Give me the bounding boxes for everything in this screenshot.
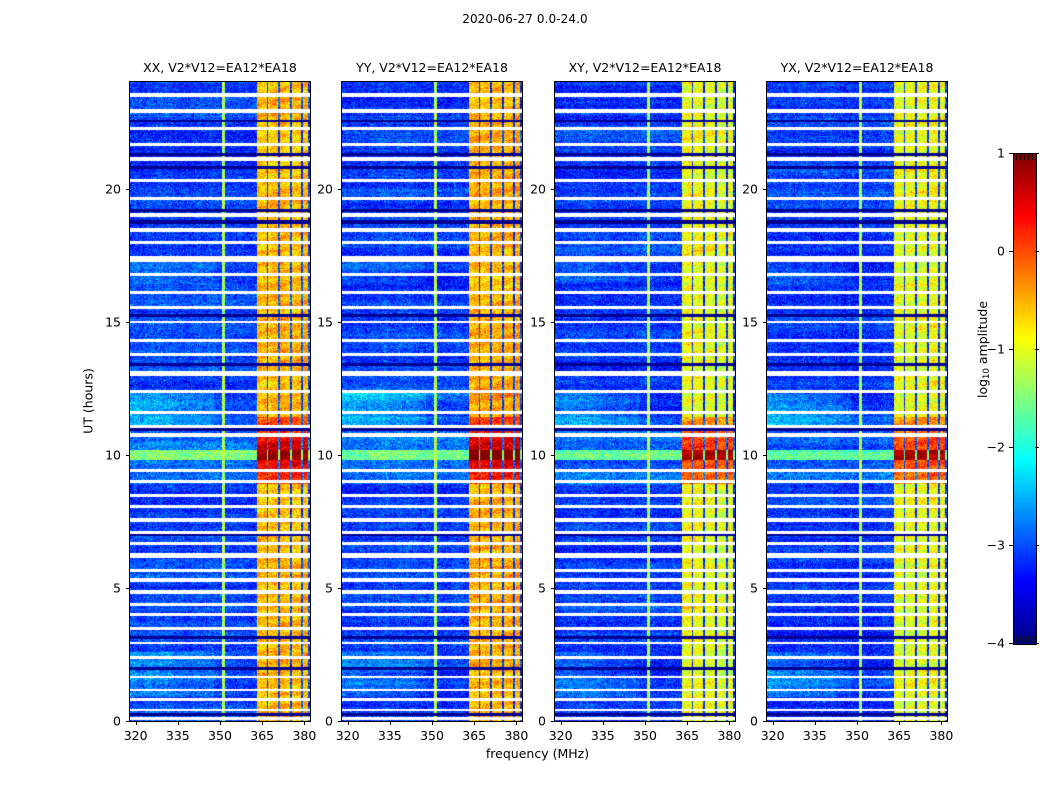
colorbar-tick-label: −4 <box>987 636 1005 651</box>
y-tick-label: 0 <box>113 714 121 729</box>
colorbar-label-base: log <box>975 379 990 398</box>
colorbar-label-rest: amplitude <box>975 301 990 368</box>
x-tick-label: 335 <box>591 728 615 743</box>
colorbar-tick-mark <box>1009 447 1013 448</box>
colorbar-gradient <box>1014 154 1036 644</box>
colorbar-extend-hatch <box>1016 154 1017 160</box>
y-tick-label: 0 <box>538 714 546 729</box>
x-tick-label: 335 <box>803 728 827 743</box>
colorbar-extend-hatch <box>1020 636 1021 642</box>
colorbar-extend-hatch <box>1020 154 1021 160</box>
y-tick-label: 20 <box>317 181 333 196</box>
panel-title-yx: YX, V2*V12=EA12*EA18 <box>781 60 934 75</box>
colorbar-extend-hatch <box>1028 154 1029 160</box>
x-tick-mark <box>729 721 730 725</box>
x-tick-label: 350 <box>208 728 232 743</box>
colorbar-tick-label: −3 <box>987 538 1005 553</box>
y-tick-label: 5 <box>113 580 121 595</box>
y-tick-mark <box>338 588 342 589</box>
panel-title-yy: YY, V2*V12=EA12*EA18 <box>356 60 508 75</box>
y-tick-mark <box>338 455 342 456</box>
y-tick-label: 5 <box>325 580 333 595</box>
x-tick-label: 380 <box>717 728 741 743</box>
x-tick-label: 350 <box>420 728 444 743</box>
y-tick-mark <box>338 721 342 722</box>
x-tick-mark <box>262 721 263 725</box>
colorbar[interactable] <box>1013 153 1037 645</box>
colorbar-extend-hatch <box>1024 154 1025 160</box>
x-tick-label: 320 <box>336 728 360 743</box>
y-tick-mark <box>763 588 767 589</box>
spectrum-panel-xy[interactable]: XY, V2*V12=EA12*EA1832033535036538005101… <box>554 81 736 722</box>
spectrum-panel-xx[interactable]: XX, V2*V12=EA12*EA1832033535036538005101… <box>129 81 311 722</box>
x-tick-mark <box>815 721 816 725</box>
x-tick-mark <box>561 721 562 725</box>
x-tick-mark <box>390 721 391 725</box>
x-tick-label: 350 <box>633 728 657 743</box>
y-tick-label: 20 <box>530 181 546 196</box>
colorbar-extend-hatch <box>1024 636 1025 642</box>
spectrum-image-xy <box>555 82 735 721</box>
x-tick-mark <box>178 721 179 725</box>
colorbar-label: log10 amplitude <box>975 301 990 398</box>
x-tick-label: 320 <box>761 728 785 743</box>
x-tick-mark <box>220 721 221 725</box>
spectrum-panel-yx[interactable]: YX, V2*V12=EA12*EA1832033535036538005101… <box>766 81 948 722</box>
x-tick-label: 365 <box>250 728 274 743</box>
x-tick-label: 350 <box>845 728 869 743</box>
y-tick-mark <box>338 189 342 190</box>
y-tick-label: 0 <box>325 714 333 729</box>
x-tick-mark <box>304 721 305 725</box>
y-tick-mark <box>763 455 767 456</box>
y-tick-mark <box>551 588 555 589</box>
colorbar-extend-hatch <box>1028 636 1029 642</box>
colorbar-tick-label: 0 <box>997 244 1005 259</box>
spectrum-panel-yy[interactable]: YY, V2*V12=EA12*EA1832033535036538005101… <box>341 81 523 722</box>
y-tick-mark <box>338 322 342 323</box>
y-tick-mark <box>551 455 555 456</box>
x-tick-mark <box>645 721 646 725</box>
colorbar-extend-hatch <box>1032 154 1033 160</box>
x-tick-mark <box>516 721 517 725</box>
y-tick-label: 20 <box>105 181 121 196</box>
x-tick-mark <box>348 721 349 725</box>
x-axis-label: frequency (MHz) <box>129 746 946 761</box>
x-tick-label: 365 <box>462 728 486 743</box>
colorbar-label-sub: 10 <box>982 368 992 379</box>
colorbar-tick-mark <box>1009 251 1013 252</box>
x-tick-mark <box>474 721 475 725</box>
x-tick-mark <box>857 721 858 725</box>
x-tick-mark <box>136 721 137 725</box>
spectrum-image-xx <box>130 82 310 721</box>
y-tick-mark <box>126 455 130 456</box>
panel-title-xx: XX, V2*V12=EA12*EA18 <box>143 60 297 75</box>
x-tick-mark <box>432 721 433 725</box>
x-tick-label: 320 <box>124 728 148 743</box>
y-tick-label: 20 <box>742 181 758 196</box>
figure-canvas: 2020-06-27 0.0-24.0 XX, V2*V12=EA12*EA18… <box>0 0 1050 800</box>
y-tick-mark <box>551 189 555 190</box>
colorbar-tick-mark-inner <box>1035 251 1039 252</box>
y-tick-label: 15 <box>105 314 121 329</box>
y-tick-mark <box>763 322 767 323</box>
x-tick-label: 380 <box>929 728 953 743</box>
y-tick-label: 0 <box>750 714 758 729</box>
colorbar-extend-hatch <box>1032 636 1033 642</box>
x-tick-label: 335 <box>378 728 402 743</box>
x-tick-label: 380 <box>292 728 316 743</box>
y-tick-mark <box>763 721 767 722</box>
y-tick-label: 10 <box>105 447 121 462</box>
x-tick-label: 335 <box>166 728 190 743</box>
colorbar-tick-label: 1 <box>997 146 1005 161</box>
colorbar-tick-mark-inner <box>1035 349 1039 350</box>
y-tick-mark <box>551 721 555 722</box>
x-tick-label: 380 <box>504 728 528 743</box>
y-tick-label: 5 <box>538 580 546 595</box>
x-tick-mark <box>941 721 942 725</box>
colorbar-tick-mark <box>1009 545 1013 546</box>
spectrum-image-yx <box>767 82 947 721</box>
colorbar-tick-mark <box>1009 349 1013 350</box>
colorbar-tick-mark-inner <box>1035 545 1039 546</box>
x-tick-mark <box>603 721 604 725</box>
y-axis-label: UT (hours) <box>81 368 96 434</box>
colorbar-tick-mark-inner <box>1035 447 1039 448</box>
x-tick-label: 365 <box>887 728 911 743</box>
colorbar-tick-mark <box>1009 153 1013 154</box>
figure-suptitle: 2020-06-27 0.0-24.0 <box>0 12 1050 26</box>
y-tick-label: 15 <box>742 314 758 329</box>
y-tick-label: 5 <box>750 580 758 595</box>
y-tick-mark <box>126 588 130 589</box>
spectrum-image-yy <box>342 82 522 721</box>
y-tick-label: 10 <box>317 447 333 462</box>
x-tick-mark <box>899 721 900 725</box>
x-tick-mark <box>687 721 688 725</box>
y-tick-label: 15 <box>530 314 546 329</box>
y-tick-mark <box>126 189 130 190</box>
x-tick-label: 320 <box>549 728 573 743</box>
y-tick-mark <box>126 322 130 323</box>
colorbar-tick-label: −2 <box>987 440 1005 455</box>
y-tick-mark <box>551 322 555 323</box>
colorbar-tick-mark-inner <box>1035 153 1039 154</box>
y-tick-mark <box>126 721 130 722</box>
y-tick-label: 15 <box>317 314 333 329</box>
x-tick-mark <box>773 721 774 725</box>
y-tick-label: 10 <box>530 447 546 462</box>
y-tick-mark <box>763 189 767 190</box>
colorbar-tick-mark-inner <box>1035 643 1039 644</box>
colorbar-extend-hatch <box>1016 636 1017 642</box>
panel-title-xy: XY, V2*V12=EA12*EA18 <box>569 60 722 75</box>
x-tick-label: 365 <box>675 728 699 743</box>
y-tick-label: 10 <box>742 447 758 462</box>
colorbar-tick-mark <box>1009 643 1013 644</box>
